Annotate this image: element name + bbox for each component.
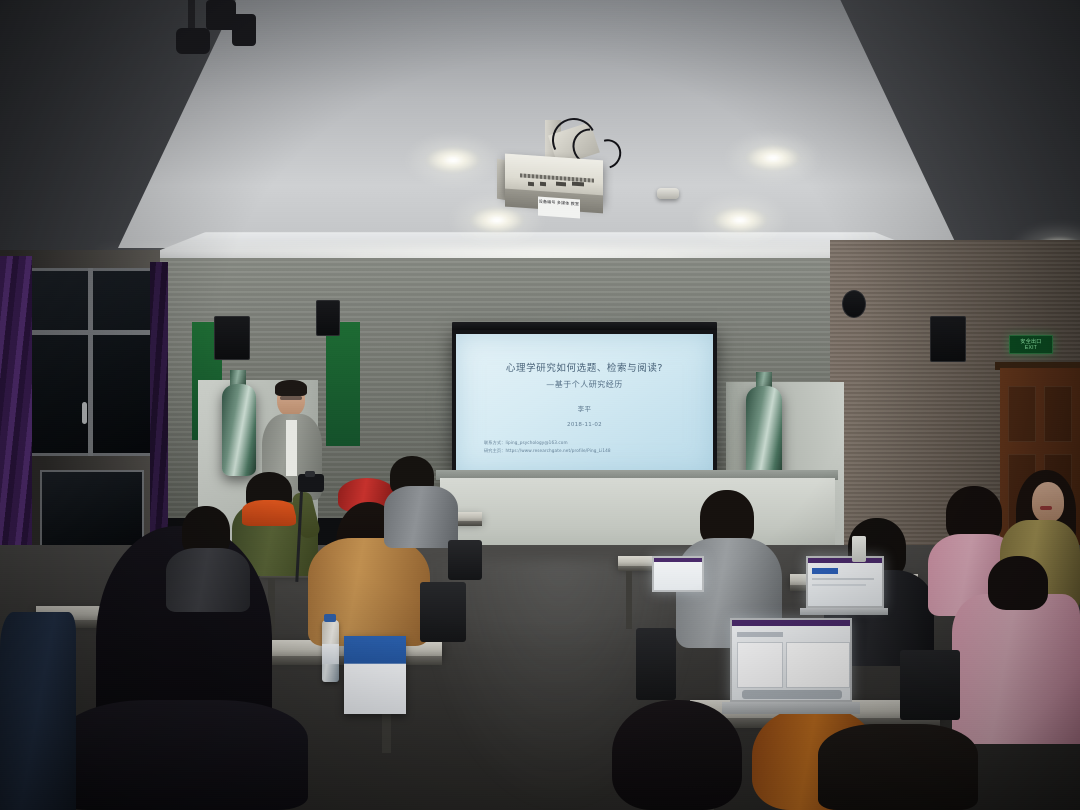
hair: [612, 700, 742, 810]
laptop-content-line: [812, 584, 866, 586]
projection-screen: 心理学研究如何选题、检索与阅读? —基于个人研究经历 李平 2018-11-02…: [452, 330, 717, 478]
paper-cup: [852, 536, 866, 562]
blue-box-text: [350, 670, 400, 675]
laptop-menubar: [654, 558, 702, 562]
door-panel: [1044, 386, 1072, 442]
laptop-content-block: [812, 568, 838, 574]
laptop-dock: [742, 690, 842, 699]
laptop-base: [722, 702, 860, 714]
laptop-right[interactable]: [806, 556, 884, 608]
decorative-vase: [222, 384, 256, 476]
wall-speaker: [930, 316, 966, 362]
green-accent-panel: [326, 322, 360, 446]
projector-label: 设备编号 多媒体 教室: [538, 197, 580, 219]
laptop-far-right[interactable]: [652, 556, 704, 592]
ceiling-downlight: [426, 147, 480, 173]
track-spotlight: [232, 14, 256, 46]
face: [1032, 482, 1064, 522]
window-curtain: [0, 256, 32, 586]
window-mullion: [24, 330, 156, 335]
ceiling-speaker: [842, 290, 866, 318]
ceiling-downlight: [746, 145, 800, 171]
torso: [818, 724, 978, 810]
ceiling-downlight: [713, 207, 767, 233]
projector-port: [556, 182, 566, 187]
laptop-menubar: [808, 558, 882, 563]
wall-speaker: [214, 316, 250, 360]
wall-speaker: [316, 300, 340, 336]
presenter-hair: [275, 380, 307, 396]
presenter-glasses: [280, 396, 302, 400]
projector-port: [572, 182, 584, 187]
camera-lens-icon: [305, 471, 315, 477]
pink-hoodie: [952, 594, 1080, 744]
chair: [900, 650, 960, 720]
orange-hood: [242, 500, 296, 526]
smoke-detector: [657, 188, 679, 199]
hair: [988, 556, 1048, 610]
lecture-hall-photo: 设备编号 多媒体 教室 安全出口 EXIT: [0, 0, 1080, 810]
torso: [166, 548, 250, 612]
emergency-exit-sign: 安全出口 EXIT: [1009, 335, 1053, 354]
bottle-cap: [324, 614, 336, 622]
blue-box: [344, 636, 406, 714]
projector-button: [528, 182, 534, 186]
neighbor-blue-jacket: [0, 612, 76, 810]
bottle-label: [322, 644, 339, 664]
presenter-shirt: [286, 420, 297, 476]
screen-surface: 心理学研究如何选题、检索与阅读? —基于个人研究经历 李平 2018-11-02…: [456, 334, 713, 474]
slide-subtitle: —基于个人研究经历: [546, 379, 623, 390]
torso: [58, 700, 308, 810]
exit-sign-label-en: EXIT: [1025, 345, 1037, 351]
presentation-slide: 心理学研究如何选题、检索与阅读? —基于个人研究经历 李平 2018-11-02…: [456, 334, 713, 474]
water-bottle: [322, 620, 339, 682]
laptop-document-pane: [786, 642, 850, 688]
laptop-menubar: [732, 620, 850, 626]
slide-contact-block: 联系方式：liping_psychology@163.com 研究主页：http…: [456, 439, 713, 455]
track-spotlight: [176, 28, 210, 54]
slide-author: 李平: [578, 403, 592, 413]
chair: [636, 628, 676, 700]
laptop-toolbar: [737, 632, 783, 637]
slide-title: 心理学研究如何选题、检索与阅读?: [506, 360, 663, 374]
window-curtain: [150, 262, 168, 562]
chair: [448, 540, 482, 580]
slide-date: 2018-11-02: [567, 422, 602, 428]
chair: [420, 582, 466, 642]
laptop-macbook[interactable]: [730, 618, 852, 702]
window-handle[interactable]: [82, 402, 87, 424]
laptop-content-line: [812, 578, 874, 580]
ceiling-downlight: [470, 207, 524, 233]
grey-coat: [384, 486, 458, 548]
slide-contact-profile: 研究主页：https://www.researchgate.net/profil…: [484, 447, 713, 455]
laptop-document-pane: [737, 642, 783, 688]
window-mullion: [88, 268, 93, 456]
mouth: [1040, 506, 1052, 510]
door-panel: [1008, 386, 1036, 442]
projector-button: [540, 182, 546, 186]
slide-contact-email: 联系方式：liping_psychology@163.com: [484, 439, 713, 447]
laptop-base: [800, 608, 888, 615]
desk-leg: [626, 571, 632, 629]
window-lower-left: [40, 470, 144, 556]
